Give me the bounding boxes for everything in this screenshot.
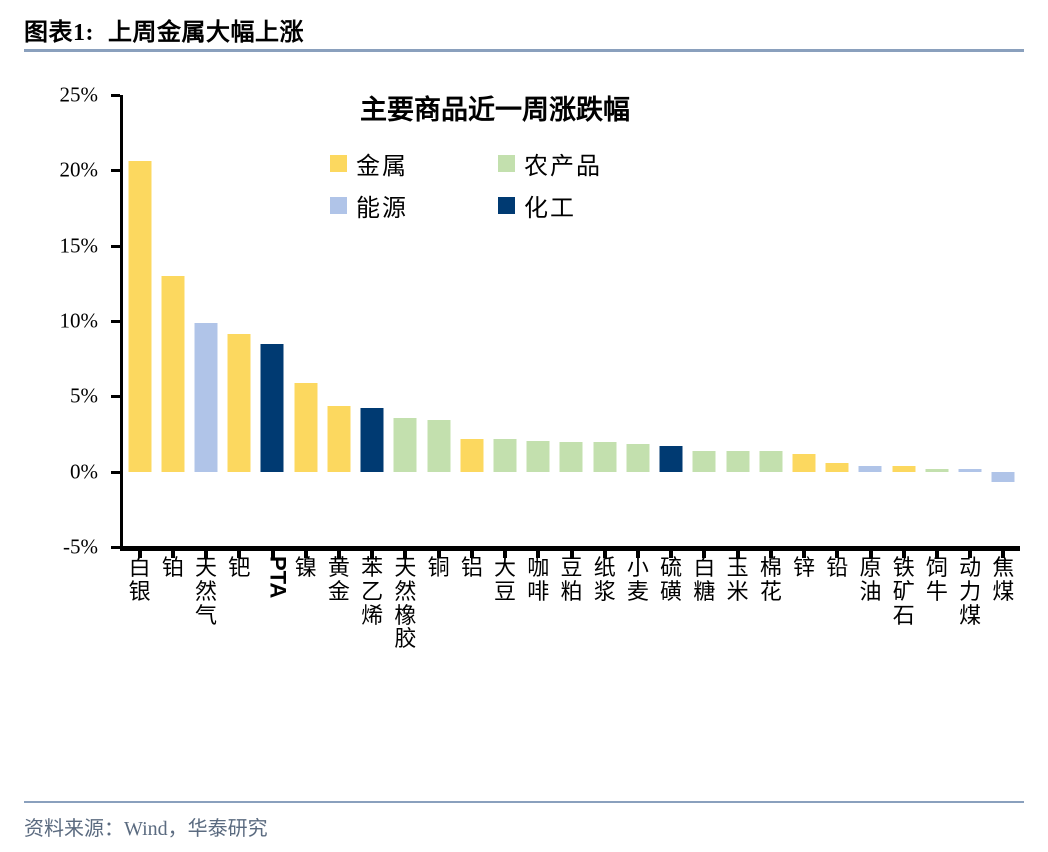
x-axis-tick-label: 大豆 [488, 556, 522, 604]
y-axis-tick [111, 471, 120, 474]
x-axis-tick-label: 小麦 [621, 556, 655, 604]
x-axis-tick-label: 苯乙烯 [355, 556, 389, 627]
source-note: 资料来源：Wind，华泰研究 [24, 812, 268, 841]
x-axis-tick-label: 动力煤 [953, 556, 987, 627]
x-axis-tick-label: 镍 [289, 556, 323, 580]
x-axis-tick-label: 锌 [787, 556, 821, 580]
x-axis-tick-label: 焦煤 [986, 556, 1020, 604]
x-axis-tick-label: PTA [256, 556, 290, 598]
x-axis-tick-label: 白糖 [687, 556, 721, 604]
x-axis-tick-label: 铁矿石 [887, 556, 921, 627]
y-axis-tick [111, 320, 120, 323]
y-axis-tick [111, 395, 120, 398]
y-axis-tick-label: 20% [60, 158, 99, 183]
y-axis-tick-label: -5% [63, 535, 98, 560]
x-axis-tick-label: 硫磺 [654, 556, 688, 604]
y-axis-tick-label: 0% [70, 459, 98, 484]
x-axis-tick-label: 铜 [422, 556, 456, 580]
x-axis-tick-label: 铂 [156, 556, 190, 580]
chart-container: 主要商品近一周涨跌幅 金属农产品能源化工 25%20%15%10%5%0%-5%… [0, 62, 1048, 797]
x-axis-labels: 白银铂天然气钯PTA镍黄金苯乙烯天然橡胶铜铝大豆咖啡豆粕纸浆小麦硫磺白糖玉米棉花… [123, 556, 1020, 786]
x-axis-tick-label: 玉米 [721, 556, 755, 604]
y-axis-tick [111, 245, 120, 248]
exhibit-number: 图表1: [24, 20, 94, 46]
y-axis-tick [111, 94, 120, 97]
exhibit-page: 图表1:上周金属大幅上涨 主要商品近一周涨跌幅 金属农产品能源化工 25%20%… [0, 0, 1048, 852]
x-axis-tick-label: 天然气 [189, 556, 223, 627]
y-axis-tick [111, 546, 120, 549]
x-axis-tick-label: 豆粕 [555, 556, 589, 604]
footer-divider [24, 801, 1024, 803]
x-axis-tick-label: 原油 [854, 556, 888, 604]
y-axis-tick-label: 25% [60, 83, 99, 108]
header-divider [24, 49, 1024, 52]
y-axis-tick-label: 15% [60, 233, 99, 258]
y-axis-labels: 25%20%15%10%5%0%-5% [0, 95, 112, 547]
x-axis-tick-label: 钯 [222, 556, 256, 580]
x-axis-tick-label: 天然橡胶 [388, 556, 422, 651]
exhibit-title: 上周金属大幅上涨 [108, 20, 304, 46]
x-axis-tick-label: 棉花 [754, 556, 788, 604]
x-axis-tick-label: 黄金 [322, 556, 356, 604]
x-axis-tick-label: 饲牛 [920, 556, 954, 604]
x-axis-ticks [123, 95, 1020, 565]
exhibit-header: 图表1:上周金属大幅上涨 [24, 12, 1024, 47]
x-axis-tick-label: 白银 [123, 556, 157, 604]
x-axis-tick-label: 纸浆 [588, 556, 622, 604]
x-axis-tick-label: 咖啡 [521, 556, 555, 604]
plot-area [120, 95, 1020, 547]
x-axis-tick-label: 铅 [820, 556, 854, 580]
y-axis-tick [111, 169, 120, 172]
x-axis-tick-label: 铝 [455, 556, 489, 580]
y-axis-tick-label: 5% [70, 384, 98, 409]
y-axis-tick-label: 10% [60, 309, 99, 334]
